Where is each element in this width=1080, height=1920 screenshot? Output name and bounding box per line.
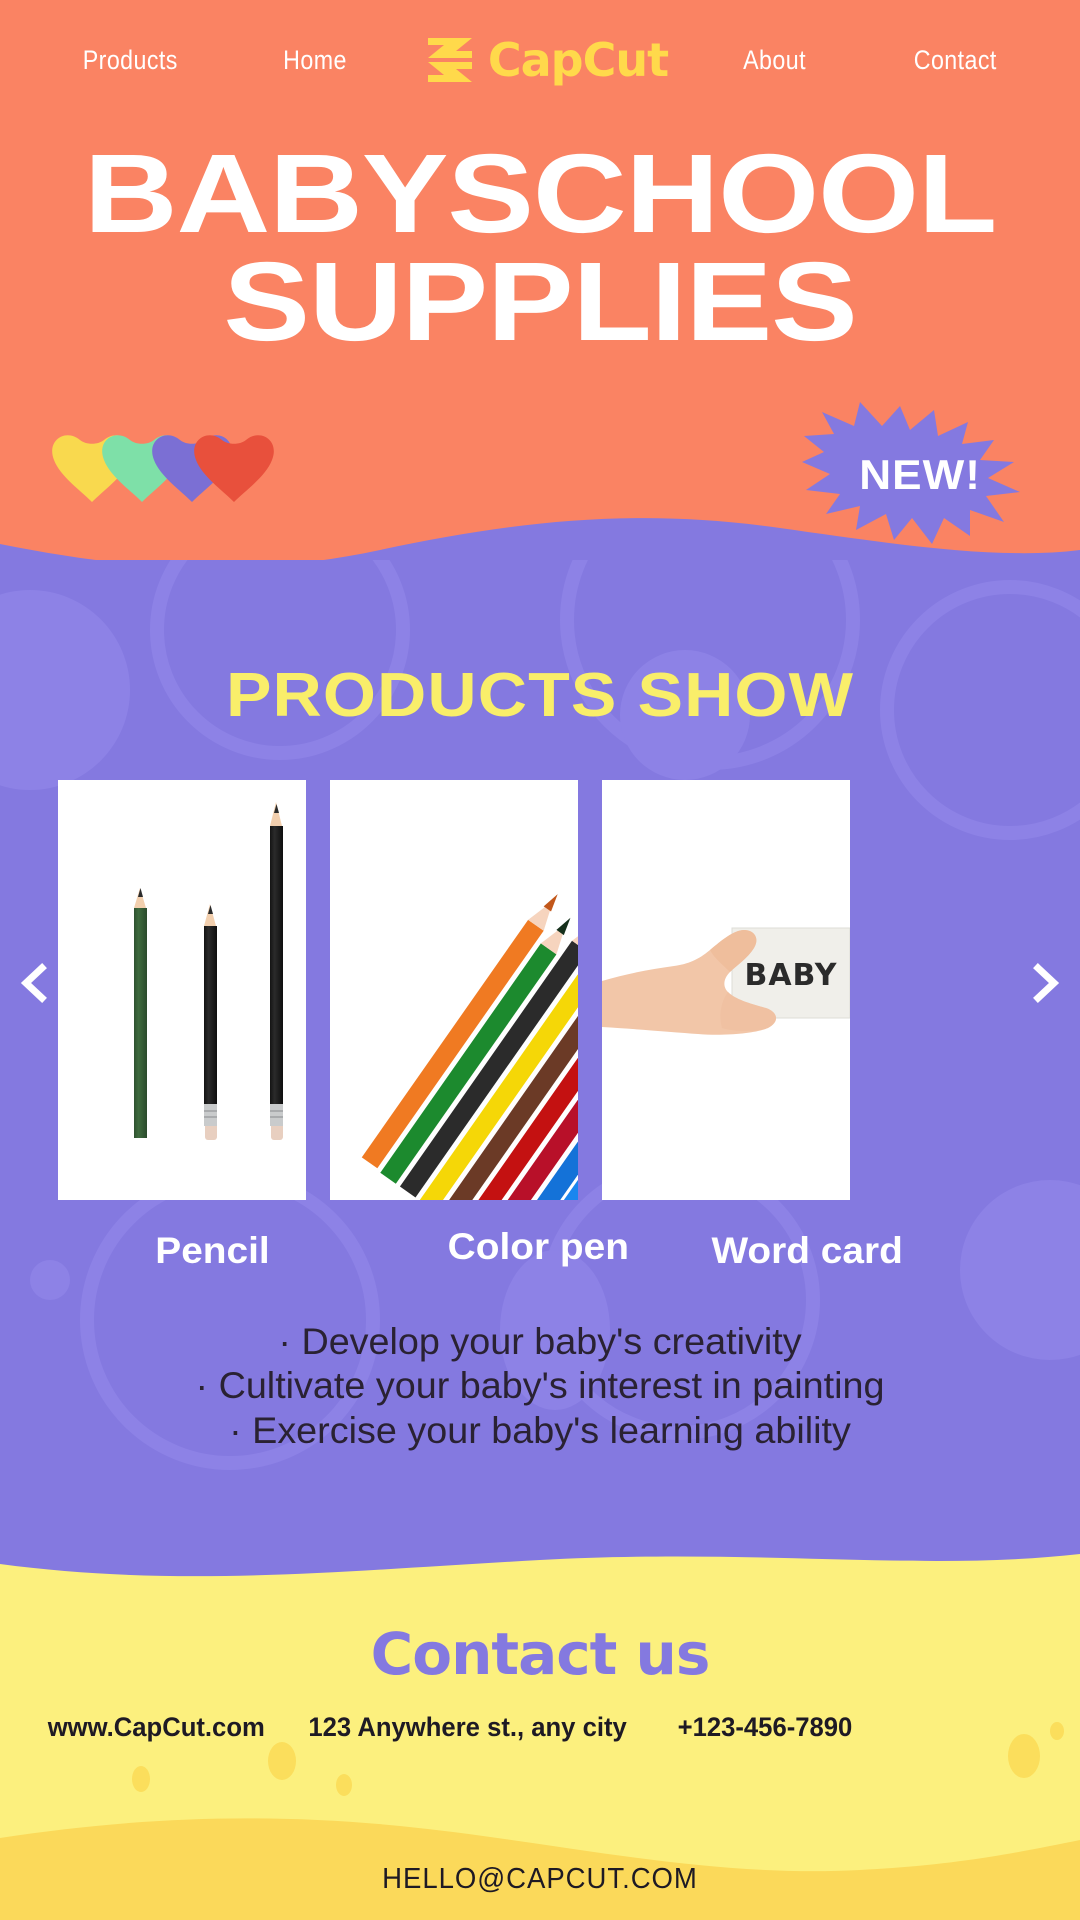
footer-wave (0, 1760, 1080, 1920)
chevron-left-icon (12, 960, 58, 1006)
product-card-pencil[interactable] (58, 780, 306, 1200)
products-carousel: BABY (58, 780, 1028, 1200)
contact-details-row: www.CapCut.com 123 Anywhere st., any cit… (0, 1712, 1080, 1752)
hero-section: Products Home CapCut About Contact BAB (0, 0, 1080, 600)
contact-website[interactable]: www.CapCut.com (48, 1712, 265, 1743)
product-label-pencil: Pencil (155, 1230, 269, 1272)
nav-slot-products: Products (30, 45, 230, 76)
footer-dot (336, 1774, 352, 1796)
carousel-next-button[interactable] (1022, 960, 1068, 1006)
product-card-color-pen[interactable] (330, 780, 578, 1200)
contact-section: Contact us www.CapCut.com 123 Anywhere s… (0, 1540, 1080, 1920)
nav-item-home[interactable]: Home (283, 45, 347, 76)
products-section: PRODUCTS SHOW (0, 560, 1080, 1570)
footer-email[interactable]: HELLO@CAPCUT.COM (27, 1863, 1053, 1896)
footer-dot (132, 1766, 150, 1792)
carousel-prev-button[interactable] (12, 960, 58, 1006)
word-card-text: BABY (744, 958, 837, 993)
capcut-logo-icon (422, 34, 478, 86)
product-label-color-pen: Color pen (448, 1226, 629, 1268)
footer-dot (1050, 1722, 1064, 1740)
products-section-title: PRODUCTS SHOW (0, 660, 1080, 731)
nav-slot-about: About (690, 45, 860, 76)
capcut-logo-text: CapCut (488, 33, 668, 87)
color-pencils-photo (330, 780, 578, 1200)
capcut-logo[interactable]: CapCut (422, 33, 668, 87)
nav-item-products[interactable]: Products (82, 45, 177, 76)
footer-dot (1008, 1734, 1040, 1778)
benefit-item: · Exercise your baby's learning ability (0, 1409, 1080, 1453)
product-card-word-card[interactable]: BABY (602, 780, 850, 1200)
pencils-photo (58, 780, 306, 1200)
contact-title: Contact us (0, 1620, 1080, 1688)
chevron-right-icon (1022, 960, 1068, 1006)
contact-phone[interactable]: +123-456-7890 (678, 1712, 853, 1743)
benefit-item: · Develop your baby's creativity (0, 1320, 1080, 1364)
product-labels: Pencil Color pen Word card (0, 1230, 1080, 1280)
nav-item-about[interactable]: About (744, 45, 807, 76)
hero-title: BABYSCHOOL SUPPLIES (0, 140, 1080, 355)
nav-slot-contact: Contact (860, 45, 1050, 76)
nav-item-contact[interactable]: Contact (913, 45, 996, 76)
benefits-list: · Develop your baby's creativity · Culti… (0, 1320, 1080, 1453)
benefit-item: · Cultivate your baby's interest in pain… (0, 1364, 1080, 1408)
product-label-word-card: Word card (711, 1230, 902, 1272)
nav-slot-home: Home (230, 45, 400, 76)
contact-wave-divider (0, 1540, 1080, 1608)
hero-title-line1: BABYSCHOOL (0, 140, 1080, 248)
hand-holding-word-card-photo: BABY (602, 780, 850, 1200)
hero-title-line2: SUPPLIES (0, 248, 1080, 356)
contact-address: 123 Anywhere st., any city (308, 1712, 626, 1743)
footer-dot (268, 1742, 296, 1780)
main-navigation: Products Home CapCut About Contact (0, 0, 1080, 120)
nav-slot-logo[interactable]: CapCut (400, 33, 690, 87)
